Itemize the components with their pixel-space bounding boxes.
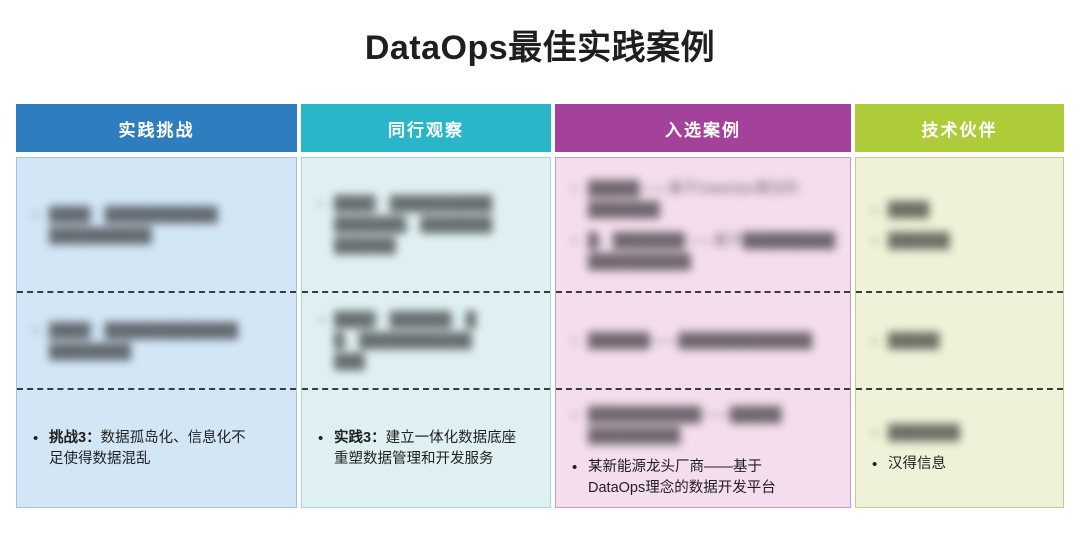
bullet-icon: • <box>566 231 588 252</box>
list-item-text: █、███████——基于█████████ ██████████ <box>588 231 844 273</box>
list-item-text: ██████——█████████████ <box>588 331 844 352</box>
cell-peer-observation-row2: •████：██████、█ █、███████████ ███ <box>302 293 550 390</box>
list-item: •█████——基于DataOps理念的 ███████ <box>566 179 844 221</box>
bullet-icon: • <box>312 310 334 331</box>
column-selected-case: 入选案例•█████——基于DataOps理念的 ███████•█、█████… <box>555 104 851 508</box>
cell-peer-observation-row1: •████：██████████ ███████、███████ ██████ <box>302 158 550 293</box>
column-peer-observation: 同行观察•████：██████████ ███████、███████ ███… <box>301 104 551 508</box>
list-item-body: █、███████——基于█████████ ██████████ <box>588 233 835 270</box>
cell-practice-challenge-row2: •████：█████████████ ████████ <box>17 293 296 390</box>
slide-root: DataOps最佳实践案例 实践挑战•████：███████████ ████… <box>0 0 1080 543</box>
column-body-selected-case: •█████——基于DataOps理念的 ███████•█、███████——… <box>555 157 851 508</box>
list-item-text: ████：█████████████ ████████ <box>49 321 290 363</box>
list-item-text: █████ <box>888 331 1057 352</box>
list-item-body: ███████ <box>888 425 960 441</box>
list-item-text: ████ <box>888 200 1057 221</box>
bullet-icon: • <box>312 428 334 449</box>
cell-selected-case-row3: •███████████——█████ █████████•某新能源龙头厂商——… <box>556 390 850 508</box>
list-item-body: ███████████——█████ █████████ <box>588 407 781 444</box>
bullet-icon: • <box>312 194 334 215</box>
list-item-text: ████：██████、█ █、███████████ ███ <box>334 310 544 373</box>
cell-practice-challenge-row1: •████：███████████ ██████████ <box>17 158 296 293</box>
cell-tech-partner-row1: •████•██████ <box>856 158 1063 293</box>
list-item-body: ██████ <box>888 233 950 249</box>
list-item: •██████——█████████████ <box>566 331 844 352</box>
list-item-text: ████：███████████ ██████████ <box>49 205 290 247</box>
list-item: •████：█████████████ ████████ <box>27 321 290 363</box>
bullet-icon: • <box>866 331 888 352</box>
list-item-body: ████：███████████ ██████████ <box>49 207 218 244</box>
list-item: •████ <box>866 200 1057 221</box>
list-item-lead: 挑战3： <box>49 430 101 446</box>
cell-tech-partner-row3: •███████•汉得信息 <box>856 390 1063 507</box>
list-item-text: 某新能源龙头厂商——基于 DataOps理念的数据开发平台 <box>588 457 844 499</box>
list-item-text: 挑战3：数据孤岛化、信息化不 足使得数据混乱 <box>49 428 290 470</box>
list-item[interactable]: •某新能源龙头厂商——基于 DataOps理念的数据开发平台 <box>566 457 844 499</box>
list-item: •███████ <box>866 423 1057 444</box>
bullet-icon: • <box>866 231 888 252</box>
column-header-tech-partner[interactable]: 技术伙伴 <box>855 104 1064 152</box>
column-body-tech-partner: •████•██████•█████•███████•汉得信息 <box>855 157 1064 508</box>
list-item-text: 汉得信息 <box>888 454 1057 475</box>
column-body-peer-observation: •████：██████████ ███████、███████ ██████•… <box>301 157 551 508</box>
list-item-body: ████：█████████████ ████████ <box>49 323 238 360</box>
page-title: DataOps最佳实践案例 <box>0 26 1080 70</box>
bullet-icon: • <box>27 205 49 226</box>
column-header-selected-case[interactable]: 入选案例 <box>555 104 851 152</box>
list-item-text: ███████████——█████ █████████ <box>588 405 844 447</box>
bullet-icon: • <box>866 200 888 221</box>
bullet-icon: • <box>566 405 588 426</box>
bullet-icon: • <box>566 331 588 352</box>
bullet-icon: • <box>866 454 888 475</box>
cell-tech-partner-row2: •█████ <box>856 293 1063 390</box>
list-item: •████：██████████ ███████、███████ ██████ <box>312 194 544 257</box>
bullet-icon: • <box>27 321 49 342</box>
list-item-text: 实践3：建立一体化数据底座 重塑数据管理和开发服务 <box>334 428 544 470</box>
cell-practice-challenge-row3: •挑战3：数据孤岛化、信息化不 足使得数据混乱 <box>17 390 296 507</box>
list-item: •█、███████——基于█████████ ██████████ <box>566 231 844 273</box>
column-body-practice-challenge: •████：███████████ ██████████•████：██████… <box>16 157 297 508</box>
column-tech-partner: 技术伙伴•████•██████•█████•███████•汉得信息 <box>855 104 1064 508</box>
list-item-body: 汉得信息 <box>888 456 946 472</box>
list-item-body: █████——基于DataOps理念的 ███████ <box>588 181 798 218</box>
list-item: •█████ <box>866 331 1057 352</box>
bullet-icon: • <box>27 428 49 449</box>
list-item-body: ████ <box>888 202 929 218</box>
cell-selected-case-row2: •██████——█████████████ <box>556 293 850 390</box>
column-practice-challenge: 实践挑战•████：███████████ ██████████•████：██… <box>16 104 297 508</box>
list-item[interactable]: •挑战3：数据孤岛化、信息化不 足使得数据混乱 <box>27 428 290 470</box>
list-item-body: 某新能源龙头厂商——基于 DataOps理念的数据开发平台 <box>588 459 776 496</box>
bullet-icon: • <box>566 179 588 200</box>
list-item-text: ███████ <box>888 423 1057 444</box>
list-item-text: █████——基于DataOps理念的 ███████ <box>588 179 844 221</box>
case-matrix: 实践挑战•████：███████████ ██████████•████：██… <box>16 104 1064 508</box>
list-item-body: ████：██████████ ███████、███████ ██████ <box>334 196 492 254</box>
list-item: •███████████——█████ █████████ <box>566 405 844 447</box>
list-item[interactable]: •实践3：建立一体化数据底座 重塑数据管理和开发服务 <box>312 428 544 470</box>
list-item-text: ████：██████████ ███████、███████ ██████ <box>334 194 544 257</box>
list-item-lead: 实践3： <box>334 430 386 446</box>
list-item: •██████ <box>866 231 1057 252</box>
column-header-peer-observation[interactable]: 同行观察 <box>301 104 551 152</box>
list-item[interactable]: •汉得信息 <box>866 454 1057 475</box>
list-item: •████：██████、█ █、███████████ ███ <box>312 310 544 373</box>
cell-peer-observation-row3: •实践3：建立一体化数据底座 重塑数据管理和开发服务 <box>302 390 550 507</box>
list-item: •████：███████████ ██████████ <box>27 205 290 247</box>
list-item-body: ████：██████、█ █、███████████ ███ <box>334 312 476 370</box>
list-item-body: ██████——█████████████ <box>588 333 812 349</box>
bullet-icon: • <box>566 457 588 478</box>
bullet-icon: • <box>866 423 888 444</box>
list-item-text: ██████ <box>888 231 1057 252</box>
cell-selected-case-row1: •█████——基于DataOps理念的 ███████•█、███████——… <box>556 158 850 293</box>
list-item-body: █████ <box>888 333 939 349</box>
column-header-practice-challenge[interactable]: 实践挑战 <box>16 104 297 152</box>
